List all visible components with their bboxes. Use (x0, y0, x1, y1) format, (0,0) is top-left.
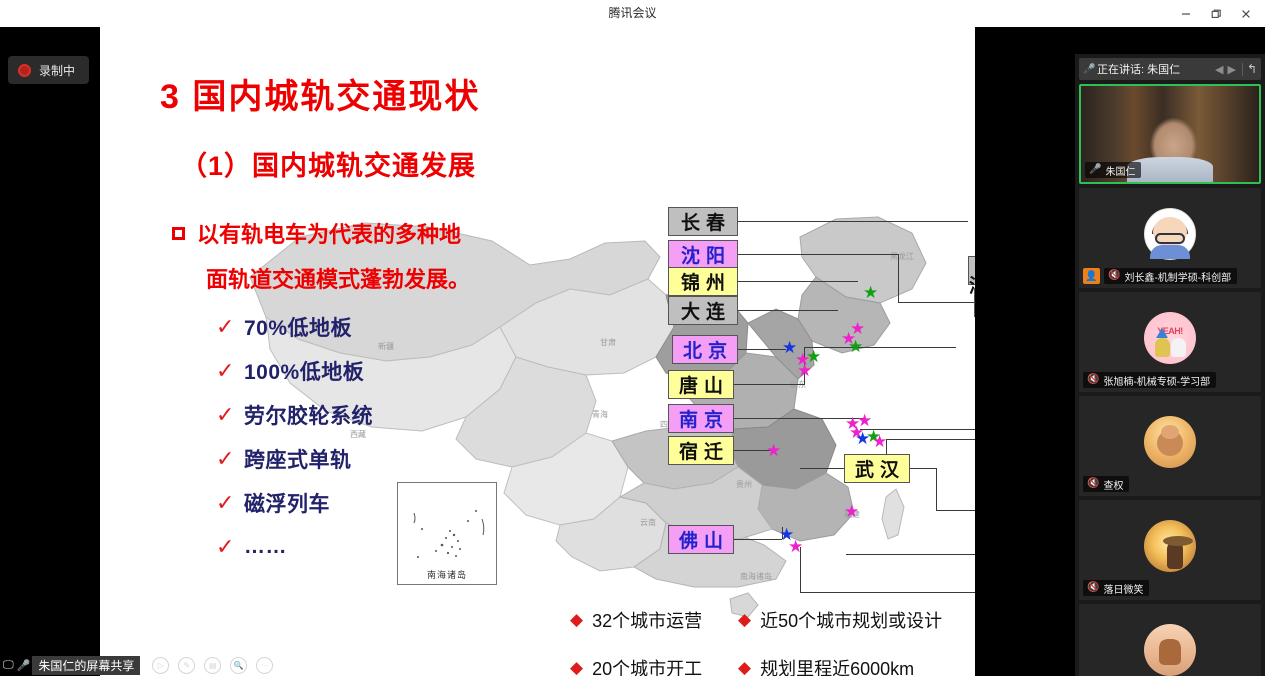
diamond-bullet-icon: ◆ (738, 610, 751, 630)
paragraph-line-2: 面轨道交通模式蓬勃发展。 (172, 257, 532, 302)
zoom-magnifier-icon[interactable]: 🔍 (230, 657, 247, 674)
inset-label: 南海诸岛 (398, 568, 496, 581)
chevron-right-icon[interactable]: ▶ (1225, 63, 1237, 76)
legend-item: ◆ 近50个城市规划或设计 (738, 607, 942, 633)
leader-line (738, 221, 968, 222)
south-china-sea-inset: 南海诸岛 (397, 482, 497, 585)
mic-muted-icon: 🔇 (1087, 375, 1099, 385)
city-label-天津: 天津 (974, 288, 975, 317)
window-controls (1171, 0, 1261, 27)
checklist-label: …… (244, 535, 287, 559)
map-star-marker-icon: ★ (788, 539, 803, 556)
leader-line (734, 384, 804, 385)
participant-tile[interactable]: YEAH!🔇张旭楠-机械专硕-学习部 (1079, 292, 1261, 392)
city-label-沈阳: 沈阳 (668, 240, 738, 269)
leader-line (738, 254, 898, 255)
tencent-meeting-window: 腾讯会议 录制中 (0, 0, 1265, 676)
participant-namebar: 🔇刘长鑫-机制学硕-科创部 (1104, 268, 1237, 284)
checklist-item: ✓跨座式单轨 (216, 437, 373, 481)
leader-line (800, 468, 846, 469)
check-icon: ✓ (216, 359, 244, 384)
avatar (1144, 520, 1196, 572)
participant-tile[interactable]: 👤🔇刘长鑫-机制学硕-科创部 (1079, 188, 1261, 288)
map-star-marker-icon: ★ (848, 339, 863, 356)
legend-label: 20个城市开工 (592, 655, 702, 676)
page-title: 3 国内城轨交通现状 (160, 69, 480, 118)
checklist-item: ✓100%低地板 (216, 349, 373, 393)
legend-label: 规划里程近6000km (760, 655, 914, 676)
legend-item: ◆ 20个城市开工 (570, 655, 738, 676)
leader-line (734, 539, 782, 540)
diamond-bullet-icon: ◆ (570, 658, 583, 676)
participant-namebar: 🔇落日微笑 (1083, 580, 1149, 596)
leader-line (738, 349, 786, 350)
checklist-item: ✓磁浮列车 (216, 481, 373, 525)
save-icon[interactable]: ▤ (204, 657, 221, 674)
leader-line (936, 468, 937, 510)
meeting-stage: 录制中 (0, 27, 1265, 676)
legend-label: 近50个城市规划或设计 (760, 607, 942, 633)
active-speaker-bar: 🎤 正在讲话: 朱国仁 ◀ ▶ ↰ (1079, 58, 1261, 80)
participant-name: 朱国仁 (1105, 163, 1135, 178)
svg-text:新疆: 新疆 (378, 341, 394, 351)
diamond-bullet-icon: ◆ (570, 610, 583, 630)
recording-dot-icon (18, 64, 31, 77)
avatar (1144, 208, 1196, 260)
checklist-label: 100%低地板 (244, 356, 364, 386)
participant-tile[interactable]: 🔇肖泽晖 (1079, 604, 1261, 676)
checklist-item: ✓70%低地板 (216, 305, 373, 349)
svg-text:甘肃: 甘肃 (600, 337, 616, 347)
screen-share-status-bar: 🖵 🎤 朱国仁的屏幕共享 ▷✎▤🔍··· (0, 654, 320, 676)
city-label-锦州: 锦州 (668, 267, 738, 296)
share-owner-label: 朱国仁的屏幕共享 (32, 656, 140, 675)
participant-name: 落日微笑 (1103, 581, 1143, 596)
legend-label: 32个城市运营 (592, 607, 702, 633)
leader-line (898, 302, 974, 303)
mic-muted-icon: 🔇 (1087, 583, 1099, 593)
chevron-left-icon[interactable]: ◀ (1213, 63, 1225, 76)
city-label-长春: 长春 (668, 207, 738, 236)
mic-icon: 🎤 (1083, 64, 1097, 75)
shared-screen-surface[interactable]: 新疆甘肃 青海西藏 四川重庆 贵州云南 山东湖南 福建黑龙江 南海诸岛 (100, 27, 975, 676)
checklist-label: 磁浮列车 (244, 488, 330, 518)
leader-line (804, 347, 956, 348)
leader-line (898, 254, 899, 302)
svg-text:湖南: 湖南 (800, 439, 816, 449)
checklist-item: ✓…… (216, 525, 373, 569)
leader-line (886, 439, 975, 440)
leader-line (910, 554, 975, 555)
leader-line (800, 592, 975, 593)
active-speaker-label: 正在讲话: 朱国仁 (1097, 61, 1213, 77)
collapse-panel-icon[interactable]: ↰ (1247, 62, 1257, 76)
participant-tile[interactable]: 🎤朱国仁 (1079, 84, 1261, 184)
square-bullet-icon (172, 227, 185, 240)
city-label-北京: 北京 (672, 335, 738, 364)
slide-checklist: ✓70%低地板✓100%低地板✓劳尔胶轮系统✓跨座式单轨✓磁浮列车✓…… (216, 305, 373, 569)
participant-namebar: 🔇张旭楠-机械专硕-学习部 (1083, 372, 1216, 388)
map-star-marker-icon: ★ (766, 443, 781, 460)
leader-line (910, 468, 936, 469)
checklist-label: 跨座式单轨 (244, 444, 352, 474)
city-label-武汉: 武汉 (844, 454, 910, 483)
city-label-佛山: 佛山 (668, 525, 734, 554)
legend-item: ◆ 32个城市运营 (570, 607, 738, 633)
leader-line (936, 510, 975, 511)
slide-paragraph: 以有轨电车为代表的多种地 面轨道交通模式蓬勃发展。 (172, 212, 532, 302)
leader-line (738, 310, 838, 311)
checklist-label: 70%低地板 (244, 312, 352, 342)
check-icon: ✓ (216, 403, 244, 428)
diamond-bullet-icon: ◆ (738, 658, 751, 676)
participant-namebar: 🎤朱国仁 (1085, 162, 1141, 178)
map-star-marker-icon: ★ (872, 434, 887, 451)
mic-on-icon: 🎤 (1089, 165, 1101, 175)
legend-item: ◆ 规划里程近6000km (738, 655, 914, 676)
svg-text:贵州: 贵州 (736, 479, 752, 489)
avatar: YEAH! (1144, 312, 1196, 364)
city-label-宿迁: 宿迁 (668, 436, 734, 465)
titlebar: 腾讯会议 (0, 0, 1265, 27)
map-star-marker-icon: ★ (797, 363, 812, 380)
participant-tile[interactable]: 🔇落日微笑 (1079, 500, 1261, 600)
svg-text:云南: 云南 (640, 517, 656, 527)
participant-name: 查权 (1103, 477, 1123, 492)
mic-muted-icon: 🔇 (1087, 479, 1099, 489)
play-icon[interactable]: ▷ (152, 657, 169, 674)
screen-icon: 🖵 (3, 659, 14, 672)
city-label-唐山: 唐山 (668, 370, 734, 399)
check-icon: ✓ (216, 315, 244, 340)
recording-label: 录制中 (39, 62, 75, 79)
participant-name: 刘长鑫-机制学硕-科创部 (1124, 269, 1231, 284)
map-star-marker-icon: ★ (844, 504, 859, 521)
city-label-南京: 南京 (668, 404, 734, 433)
slide-legend: ◆ 32个城市运营 ◆ 近50个城市规划或设计 ◆ 20个城市开工 ◆ (570, 607, 970, 676)
participant-panel: 🎤 正在讲话: 朱国仁 ◀ ▶ ↰ 🎤朱国仁👤🔇刘长鑫-机制学硕-科创部YEAH… (1075, 54, 1265, 676)
city-label-哈尔滨: 哈尔滨 (968, 256, 975, 285)
svg-text:青海: 青海 (592, 409, 608, 419)
participant-tiles: 🎤朱国仁👤🔇刘长鑫-机制学硕-科创部YEAH!🔇张旭楠-机械专硕-学习部🔇查权🔇… (1079, 84, 1261, 676)
recording-indicator: 录制中 (8, 56, 89, 84)
check-icon: ✓ (216, 447, 244, 472)
checklist-item: ✓劳尔胶轮系统 (216, 393, 373, 437)
check-icon: ✓ (216, 535, 244, 560)
svg-text:南海诸岛: 南海诸岛 (740, 571, 772, 581)
restore-button[interactable] (1201, 0, 1231, 27)
city-label-大连: 大连 (668, 296, 738, 325)
mic-icon: 🎤 (17, 659, 31, 672)
share-toolbar[interactable]: ▷✎▤🔍··· (152, 657, 273, 674)
participant-name: 张旭楠-机械专硕-学习部 (1103, 373, 1210, 388)
divider (1242, 63, 1243, 76)
check-icon: ✓ (216, 491, 244, 516)
minimize-button[interactable] (1171, 0, 1201, 27)
map-star-marker-icon: ★ (863, 285, 878, 302)
avatar (1144, 416, 1196, 468)
host-badge-icon: 👤 (1083, 268, 1100, 284)
window-title: 腾讯会议 (0, 0, 1265, 27)
legend-row: ◆ 32个城市运营 ◆ 近50个城市规划或设计 (570, 607, 970, 633)
leader-line (846, 554, 910, 555)
leader-line (738, 281, 858, 282)
more-icon[interactable]: ··· (256, 657, 273, 674)
participant-namebar: 🔇查权 (1083, 476, 1129, 492)
svg-text:黑龙江: 黑龙江 (890, 251, 914, 261)
page-subtitle: （1）国内城轨交通发展 (180, 144, 476, 183)
legend-row: ◆ 20个城市开工 ◆ 规划里程近6000km (570, 655, 970, 676)
checklist-label: 劳尔胶轮系统 (244, 400, 373, 430)
annotate-pencil-icon[interactable]: ✎ (178, 657, 195, 674)
paragraph-line-1: 以有轨电车为代表的多种地 (197, 222, 461, 247)
mic-muted-icon: 🔇 (1108, 271, 1120, 281)
participant-tile[interactable]: 🔇查权 (1079, 396, 1261, 496)
avatar (1144, 624, 1196, 676)
close-button[interactable] (1231, 0, 1261, 27)
